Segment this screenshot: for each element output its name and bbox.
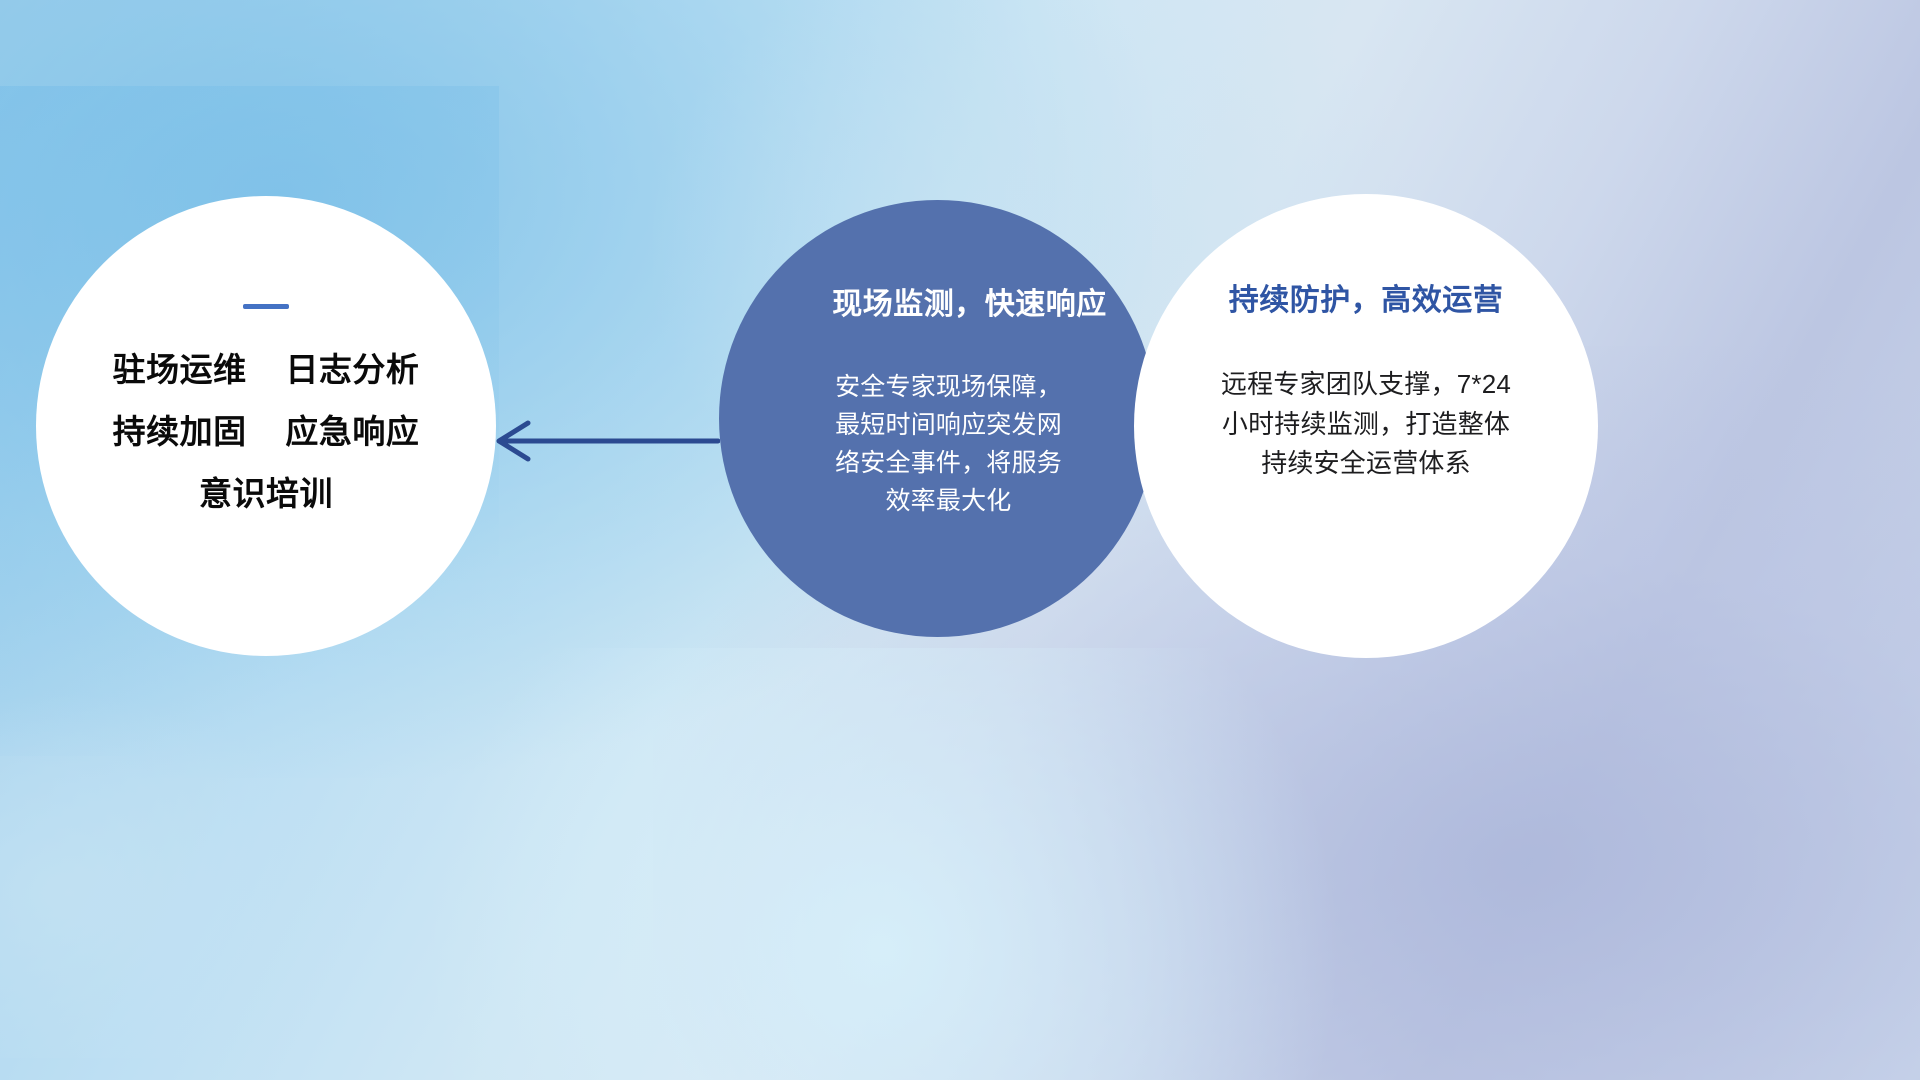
capability-line-3: 意识培训: [70, 477, 462, 510]
capability-circle-right-content: 持续防护，高效运营 远程专家团队支撑，7*24 小时持续监测，打造整体 持续安全…: [1134, 284, 1598, 484]
background-wash-bottom-center: [422, 648, 1344, 1080]
center-body-line-3: 络安全事件，将服务: [761, 444, 1136, 482]
capability-circle-left[interactable]: 驻场运维 日志分析 持续加固 应急响应 意识培训: [36, 196, 496, 656]
capability-circle-center[interactable]: 现场监测，快速响应 安全专家现场保障， 最短时间响应突发网 络安全事件，将服务 …: [719, 200, 1156, 637]
divider-dash: [243, 304, 289, 309]
right-circle-body: 远程专家团队支撑，7*24 小时持续监测，打造整体 持续安全运营体系: [1152, 365, 1580, 484]
center-body-line-1: 安全专家现场保障，: [761, 368, 1136, 406]
capability-circle-center-content: 现场监测，快速响应 安全专家现场保障， 最短时间响应突发网 络安全事件，将服务 …: [719, 200, 1156, 637]
right-body-line-3: 持续安全运营体系: [1152, 444, 1580, 484]
capability-circle-left-content: 驻场运维 日志分析 持续加固 应急响应 意识培训: [36, 304, 496, 510]
capability-line-2: 持续加固 应急响应: [70, 415, 462, 448]
arrow-left-icon: [480, 406, 720, 476]
center-body-line-2: 最短时间响应突发网: [761, 406, 1136, 444]
center-circle-body: 安全专家现场保障， 最短时间响应突发网 络安全事件，将服务 效率最大化: [761, 368, 1136, 520]
right-body-line-1: 远程专家团队支撑，7*24: [1152, 365, 1580, 405]
capability-circle-right[interactable]: 持续防护，高效运营 远程专家团队支撑，7*24 小时持续监测，打造整体 持续安全…: [1134, 194, 1598, 658]
right-circle-heading: 持续防护，高效运营: [1152, 284, 1580, 317]
slide-canvas: 驻场运维 日志分析 持续加固 应急响应 意识培训 现场监测，快速响应 安全专家现…: [0, 0, 1920, 1080]
capability-line-1: 驻场运维 日志分析: [70, 353, 462, 386]
center-body-line-4: 效率最大化: [761, 482, 1136, 520]
background-wash-bottom-left: [0, 691, 346, 1058]
center-circle-heading: 现场监测，快速响应: [803, 288, 1136, 321]
right-body-line-2: 小时持续监测，打造整体: [1152, 405, 1580, 445]
